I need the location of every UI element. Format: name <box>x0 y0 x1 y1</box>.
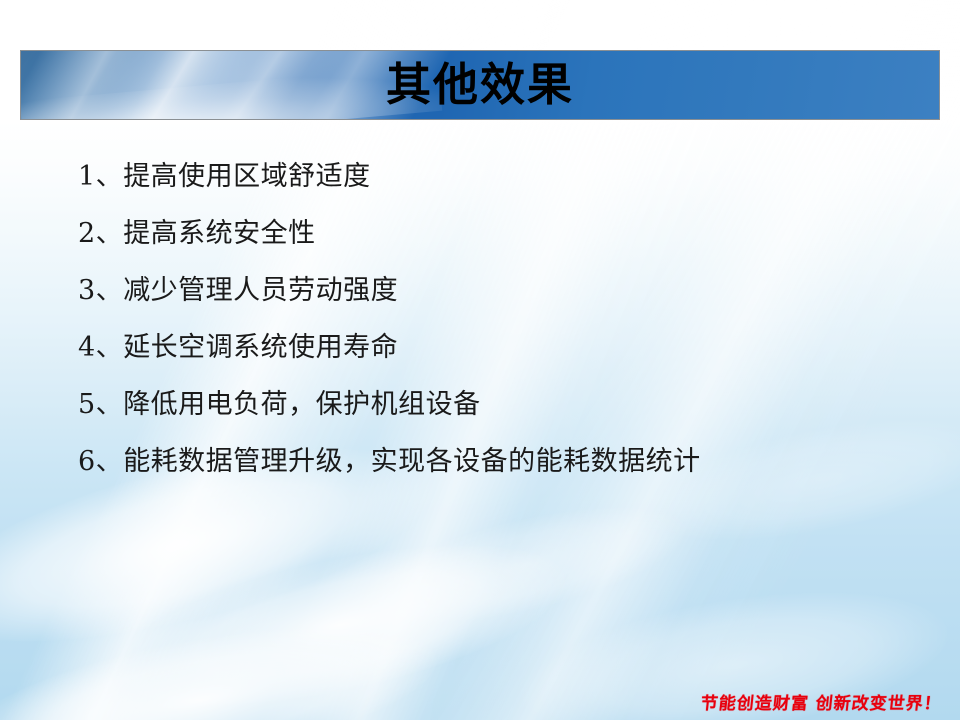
bullet-list: 1、提高使用区域舒适度 2、提高系统安全性 3、减少管理人员劳动强度 4、延长空… <box>78 148 928 490</box>
footer-slogan: 节能创造财富 创新改变世界！ <box>700 689 944 714</box>
list-item: 6、能耗数据管理升级，实现各设备的能耗数据统计 <box>78 433 928 490</box>
list-item-number: 3、 <box>78 275 123 306</box>
presentation-slide: 其他效果 1、提高使用区域舒适度 2、提高系统安全性 3、减少管理人员劳动强度 … <box>0 0 960 720</box>
list-item: 2、提高系统安全性 <box>78 205 928 262</box>
list-item-text: 降低用电负荷，保护机组设备 <box>123 389 481 420</box>
list-item-number: 1、 <box>78 161 123 192</box>
title-banner: 其他效果 <box>20 50 940 120</box>
list-item-text: 提高使用区域舒适度 <box>123 161 371 192</box>
list-item-text: 减少管理人员劳动强度 <box>123 275 398 306</box>
list-item-number: 2、 <box>78 218 123 249</box>
list-item-text: 延长空调系统使用寿命 <box>123 332 398 363</box>
list-item-number: 6、 <box>78 446 123 477</box>
list-item-number: 5、 <box>78 389 123 420</box>
list-item: 5、降低用电负荷，保护机组设备 <box>78 376 928 433</box>
slide-title: 其他效果 <box>21 51 939 119</box>
list-item: 4、延长空调系统使用寿命 <box>78 319 928 376</box>
list-item: 1、提高使用区域舒适度 <box>78 148 928 205</box>
list-item-text: 提高系统安全性 <box>123 218 316 249</box>
list-item-text: 能耗数据管理升级，实现各设备的能耗数据统计 <box>123 446 701 477</box>
list-item: 3、减少管理人员劳动强度 <box>78 262 928 319</box>
list-item-number: 4、 <box>78 332 123 363</box>
